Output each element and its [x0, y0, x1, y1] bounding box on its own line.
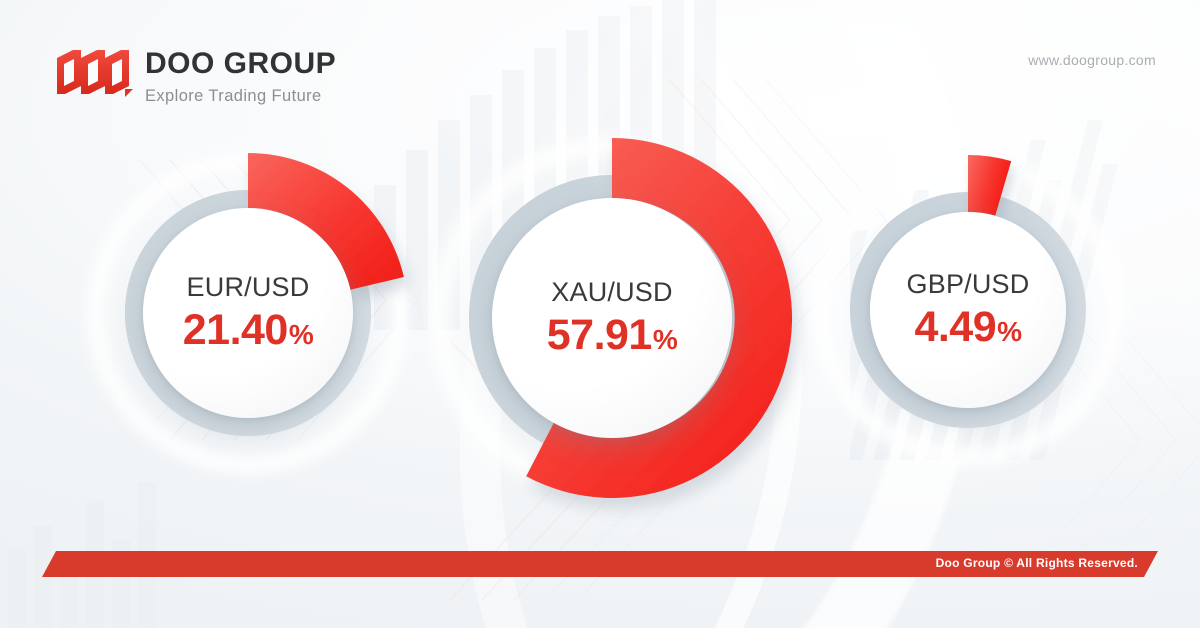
pair-value-number-gbpusd: 4.49 — [914, 306, 996, 349]
pair-value-number-xauusd: 57.91 — [547, 314, 652, 357]
pair-value-number-eurusd: 21.40 — [183, 309, 288, 352]
gauge-center-disc-eurusd: EUR/USD 21.40 % — [143, 208, 353, 418]
pair-label-gbpusd: GBP/USD — [907, 271, 1030, 298]
pair-label-eurusd: EUR/USD — [187, 274, 310, 301]
gauge-center-disc-gbpusd: GBP/USD 4.49 % — [870, 212, 1066, 408]
pair-value-percent-gbpusd: % — [997, 318, 1021, 346]
gauge-center-disc-xauusd: XAU/USD 57.91 % — [492, 198, 732, 438]
pair-value-xauusd: 57.91 % — [547, 314, 678, 357]
pair-value-eurusd: 21.40 % — [183, 309, 314, 352]
poster-canvas: DOO GROUP Explore Trading Future www.doo… — [0, 0, 1200, 628]
footer-copyright: Doo Group © All Rights Reserved. — [936, 556, 1138, 570]
donut-gauge-xauusd[interactable]: XAU/USD 57.91 % — [432, 138, 792, 498]
donut-gauge-row: EUR/USD 21.40 % — [0, 0, 1200, 628]
pair-value-gbpusd: 4.49 % — [914, 306, 1021, 349]
donut-gauge-gbpusd[interactable]: GBP/USD 4.49 % — [813, 155, 1123, 465]
pair-label-xauusd: XAU/USD — [551, 279, 672, 306]
pair-value-percent-xauusd: % — [653, 326, 677, 354]
donut-gauge-eurusd[interactable]: EUR/USD 21.40 % — [88, 153, 408, 473]
pair-value-percent-eurusd: % — [289, 321, 313, 349]
